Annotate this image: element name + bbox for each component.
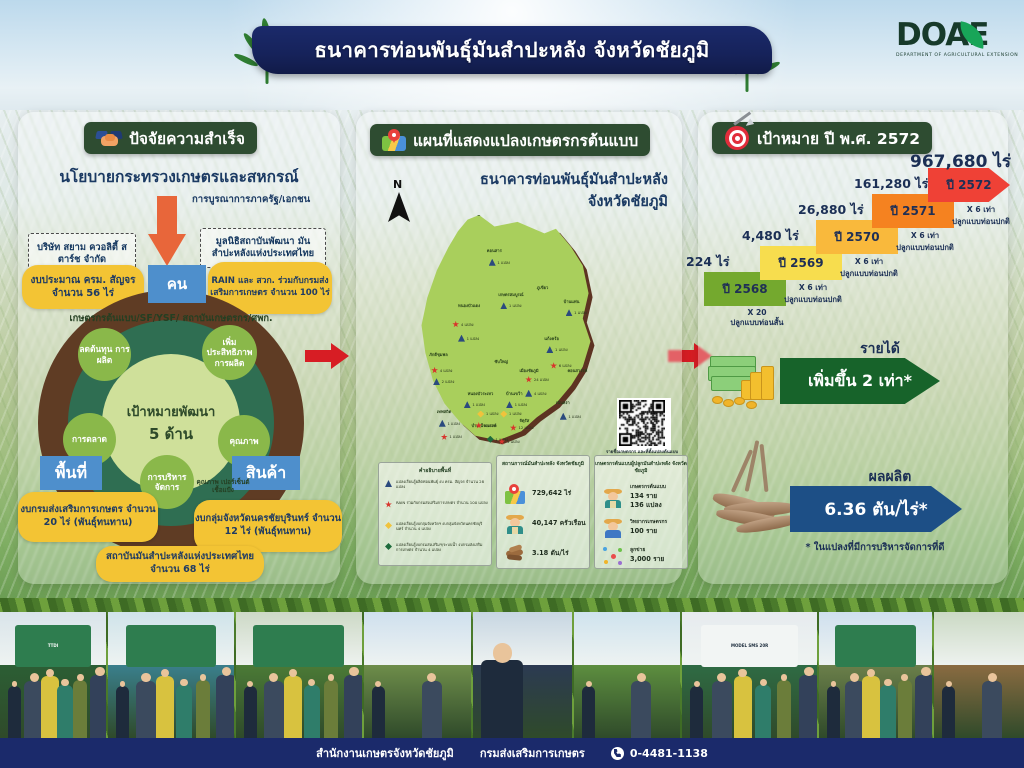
photo-person-head: [328, 674, 334, 680]
farmer-icon: [603, 488, 623, 508]
map-marker-label: 4 แปลง: [440, 368, 453, 374]
target-arrow-icon: [724, 125, 750, 151]
goal-step-note-method: ปลูกแบบท่อนปกติ: [932, 216, 1024, 228]
model-farmer-value: 134 ราย: [630, 492, 666, 502]
photo-banner: [253, 625, 344, 668]
photo-person: [631, 681, 651, 738]
money-stack-icon: [706, 352, 782, 414]
model-farmer-label: เกษตรกรต้นแบบ: [630, 484, 666, 492]
map-district-label: ภูเขียว: [537, 284, 549, 291]
photo-person: [777, 680, 791, 738]
photo-person: [8, 686, 21, 738]
trainer-value: 100 ราย: [630, 527, 667, 537]
photo-cassava-rows: [364, 612, 472, 738]
photo-officer-portrait: [473, 612, 572, 738]
goal-step-value: 4,480 ไร่: [742, 226, 799, 246]
map-marker-label: 24 แปลง: [534, 377, 549, 383]
photo-person: [344, 675, 362, 738]
goal-step-note: X 20ปลูกแบบท่อนสั้น: [708, 308, 806, 329]
photo-banner: [835, 625, 917, 668]
photo-person: [862, 676, 880, 738]
integration-text: การบูรณาการภาครัฐ/เอกชน: [192, 192, 342, 207]
photo-person: [982, 681, 1002, 738]
photo-person-head: [200, 674, 206, 680]
province-cluster-budget-pill: งบกลุ่มจังหวัดนครชัยบุรินทร์ จำนวน 12 ไร…: [194, 500, 342, 552]
institute-budget-pill: สถาบันมันสำปะหลังแห่งประเทศไทย จำนวน 68 …: [96, 546, 264, 582]
map-marker-label: 1 แปลง: [555, 347, 568, 353]
doae-logo: DOAE DEPARTMENT OF AGRICULTURAL EXTENSIO…: [896, 18, 1014, 74]
map-marker-label: 2 แปลง: [442, 379, 455, 385]
goal-step-note-multiplier: X 6 เท่า: [764, 282, 862, 294]
map-district-label: เมืองชัยภูมิ: [519, 367, 538, 374]
map-marker-label: 1 แปลง: [574, 310, 587, 316]
map-marker-label: 6 แปลง: [484, 423, 497, 429]
photo-person: [422, 681, 442, 738]
photo-person-head: [161, 669, 169, 677]
map-marker-label: 6 แปลง: [559, 363, 572, 369]
photo-person-head: [308, 679, 315, 686]
flow-arrow-right-icon: [305, 343, 349, 369]
photo-person: [898, 680, 912, 738]
photo-person-head: [586, 681, 592, 687]
photo-person-head: [867, 669, 875, 677]
success-factors-title-label: ปัจจัยความสำเร็จ: [129, 126, 245, 151]
goal-bubble-efficiency: เพิ่ม ประสิทธิภาพ การผลิต: [202, 325, 257, 380]
map-marker-label: 1 แปลง: [449, 434, 462, 440]
map-district-label: บ้านแท่น: [564, 298, 580, 305]
farmer-icon: [505, 514, 525, 534]
phone-icon: [611, 747, 624, 760]
photo-person-head: [717, 673, 726, 682]
doae-logo-subtitle: DEPARTMENT OF AGRICULTURAL EXTENSION: [896, 53, 1014, 58]
female-farmer-icon: [603, 518, 623, 538]
photo-person-head: [850, 673, 859, 682]
photo-person-head: [222, 667, 232, 677]
photo-person-head: [694, 681, 700, 687]
goal-step-note-method: ปลูกแบบท่อนสั้น: [708, 317, 806, 329]
goal-step-note-method: ปลูกแบบท่อนปกติ: [820, 268, 918, 280]
photo-strip: TTDIMODEL SMS 20R: [0, 612, 1024, 738]
compass-north-label: N: [393, 178, 402, 191]
diagram-center-title: เป้าหมายพัฒนา: [127, 401, 216, 422]
model-farmer-stat-box: เกษตรกรต้นแบบผู้ปลูกมันสำปะหลัง จังหวัดช…: [594, 455, 688, 569]
situation-stat-title: สถานการณ์มันสำปะหลัง จังหวัดชัยภูมิ: [497, 461, 589, 468]
goal-step-value: 26,880 ไร่: [798, 200, 864, 220]
photo-person-head: [921, 667, 931, 677]
photo-person-head: [988, 673, 997, 682]
map-district-label: ซับใหญ่: [494, 358, 508, 365]
map-district-label: บ้านเขว้า: [506, 390, 523, 397]
photo-person: [156, 676, 174, 738]
photo-person-head: [946, 681, 952, 687]
map-district-label: จัตุรัส: [519, 417, 529, 424]
map-district-label: หนองบัวระเหว: [468, 390, 494, 397]
model-farmer-plots: 136 แปลง: [630, 501, 666, 511]
policy-text: นโยบายกระทรวงเกษตรและสหกรณ์: [18, 164, 340, 189]
map-district-label: หนองบัวแดง: [458, 302, 480, 309]
photo-banner: [126, 625, 217, 668]
photo-banner: MODEL SMS 20R: [701, 625, 798, 668]
network-value: 3,000 ราย: [630, 555, 664, 565]
map-panel-title-label: แผนที่แสดงแปลงเกษตรกรต้นแบบ: [413, 128, 638, 153]
goal-step-note: X 6 เท่าปลูกแบบท่อนปกติ: [876, 230, 974, 254]
photo-banner: TTDI: [15, 625, 91, 668]
photo-person: [284, 676, 302, 738]
goal-step-value: 161,280 ไร่: [854, 174, 928, 194]
photo-person: [582, 686, 595, 738]
map-district-label: แก้งคร้อ: [544, 335, 559, 342]
down-arrow-icon: [148, 196, 186, 266]
photo-person-head: [427, 673, 436, 682]
photo-person-head: [831, 681, 837, 687]
photo-model-sms-20r: MODEL SMS 20R: [682, 612, 817, 738]
footer-department: กรมส่งเสริมการเกษตร: [480, 744, 585, 762]
photo-person: [942, 686, 955, 738]
yield-caption: ผลผลิต: [830, 466, 950, 488]
map-marker-label: 1 แปลง: [509, 411, 522, 417]
map-marker-label: 1 แปลง: [447, 421, 460, 427]
map-legend-title: คำอธิบายพื้นที่: [379, 467, 491, 475]
goal-panel-title: เป้าหมาย ปี พ.ศ. 2572: [712, 122, 932, 154]
photo-person-head: [46, 669, 54, 677]
map-marker-label: 12 แปลง: [518, 425, 533, 431]
photo-person: [755, 685, 771, 738]
legend-item: RAIN ร่วมกับกรมส่งเสริมการเกษตร จำนวน 10…: [385, 500, 489, 508]
photo-person-head: [30, 673, 39, 682]
map-marker-label: 1 แปลง: [486, 411, 499, 417]
photo-person-head: [289, 669, 297, 677]
photo-banner-text: TTDI: [15, 643, 91, 648]
legend-item-label: RAIN ร่วมกับกรมส่งเสริมการเกษตร จำนวน 10…: [396, 500, 488, 505]
map-district-label: เกษตรสมบูรณ์: [498, 291, 523, 298]
footer-phone-number: 0-4481-1138: [630, 747, 708, 760]
photo-banner-text: MODEL SMS 20R: [701, 643, 798, 648]
goal-step-value: 224 ไร่: [686, 252, 729, 272]
map-district-label: เนินสง่า: [556, 399, 570, 406]
photo-harvest-pile: [934, 612, 1024, 738]
photo-person: [304, 685, 320, 738]
farmer-types-text: เกษตรกรต้นแบบ/SF/YSF/ สถาบันเกษตรกร/ศพก.: [62, 313, 280, 325]
label-area: พื้นที่: [40, 456, 102, 490]
photo-person: [216, 675, 234, 738]
photo-person: [690, 686, 703, 738]
map-marker-label: 1 แปลง: [509, 303, 522, 309]
triangle-navy-icon: [385, 480, 392, 487]
photo-person: [136, 681, 156, 738]
map-pin-icon: [505, 484, 525, 504]
photo-person-head: [738, 669, 746, 677]
legend-item-label: แปลงเรียนรู้งบกลุ่มจังหวัดฯ งบกลุ่มจังหว…: [396, 521, 489, 532]
map-marker-label: 1 แปลง: [568, 414, 581, 420]
legend-item: แปลงเรียนรู้ผลิตท่อนพันธุ์ งบ ครม. สัญจร…: [385, 479, 489, 490]
map-marker-label: 4 แปลง: [534, 391, 547, 397]
cassava-root-icon: [505, 544, 525, 564]
photo-award-handover: [108, 612, 234, 738]
page-title: ธนาคารท่อนพันธุ์มันสำปะหลัง จังหวัดชัยภู…: [314, 34, 709, 67]
trainer-label: วิทยากรเกษตรกร: [630, 519, 667, 527]
success-factors-title: ปัจจัยความสำเร็จ: [84, 122, 257, 154]
photo-person: [880, 685, 896, 738]
situation-yield-value: 3.18 ตัน/ไร่: [532, 549, 569, 559]
photo-person-head: [804, 667, 814, 677]
yield-arrow-banner: 6.36 ตัน/ไร่*: [790, 486, 962, 532]
header-title-pill: ธนาคารท่อนพันธุ์มันสำปะหลัง จังหวัดชัยภู…: [252, 26, 772, 74]
map-heading-line1: ธนาคารท่อนพันธุ์มันสำปะหลัง: [400, 170, 668, 191]
photo-person-head: [77, 674, 83, 680]
photo-person-head: [781, 674, 787, 680]
photo-person-head: [61, 679, 68, 686]
map-marker-star: [441, 434, 448, 441]
photo-person-head: [120, 681, 126, 687]
goal-footnote: * ในแปลงที่มีการบริหารจัดการที่ดี: [750, 540, 1000, 555]
photo-field-visit-cassava: [236, 612, 362, 738]
goal-step-note-multiplier: X 6 เท่า: [820, 256, 918, 268]
diagram-center-value: 5 ด้าน: [149, 422, 193, 446]
photo-person: [799, 675, 817, 738]
income-caption: รายได้: [820, 338, 940, 360]
photo-person: [196, 680, 210, 738]
photo-person-head: [95, 667, 105, 677]
goal-step-note: X 6 เท่าปลูกแบบท่อนปกติ: [820, 256, 918, 280]
photo-person-head: [349, 667, 359, 677]
photo-person: [481, 660, 523, 738]
photo-person: [712, 681, 732, 738]
diamond-yellow-icon: [385, 522, 392, 529]
map-pin-icon: [382, 129, 406, 151]
footer-bar: สำนักงานเกษตรจังหวัดชัยภูมิ กรมส่งเสริมก…: [0, 738, 1024, 768]
photo-person: [176, 685, 192, 738]
map-marker-tri: [560, 413, 567, 420]
legend-item-label: แปลงเรียนรู้ผลิตท่อนพันธุ์ งบ ครม. สัญจร…: [396, 479, 489, 490]
goal-step-note-multiplier: X 6 เท่า: [876, 230, 974, 242]
network-label: ลูกข่าย: [630, 547, 664, 555]
photo-person: [116, 686, 129, 738]
label-people: คน: [148, 265, 206, 303]
photo-person-head: [637, 673, 646, 682]
photo-person-head: [901, 674, 907, 680]
qr-code[interactable]: [617, 398, 671, 452]
map-marker-tri: [439, 420, 446, 427]
photo-cassava-field: [574, 612, 680, 738]
goal-step-note-method: ปลูกแบบท่อนปกติ: [764, 294, 862, 306]
map-district-label: ภักดีชุมพล: [429, 351, 448, 358]
photo-person: [41, 676, 59, 738]
legend-item: แปลงเรียนรู้งบกรมส่งเสริมฯ/ระบบน้ำ งบกรม…: [385, 542, 489, 553]
photo-person-head: [180, 679, 187, 686]
photo-group-stems: [819, 612, 932, 738]
diamond-green-icon: [385, 543, 392, 550]
footer-office: สำนักงานเกษตรจังหวัดชัยภูมิ: [316, 744, 454, 762]
photo-person: [734, 676, 752, 738]
photo-person-head: [12, 681, 18, 687]
map-marker-label: 1 แปลง: [497, 260, 510, 266]
map-marker-label: 1 แปลง: [515, 402, 528, 408]
map-marker-label: 1 แปลง: [472, 402, 485, 408]
photo-person-head: [884, 679, 891, 686]
photo-person: [73, 680, 87, 738]
star-red-icon: [385, 501, 392, 508]
map-marker-label: 1 แปลง: [467, 336, 480, 342]
chaiyaphum-province-map: คอนสารเกษตรสมบูรณ์ภูเขียวบ้านแท่นหนองบัว…: [410, 215, 602, 445]
photo-person-head: [247, 681, 253, 687]
photo-person: [264, 681, 284, 738]
legend-item-label: แปลงเรียนรู้งบกรมส่งเสริมฯ/ระบบน้ำ งบกรม…: [396, 542, 489, 553]
compass-icon: N: [386, 178, 412, 224]
photo-person-head: [760, 679, 767, 686]
handshake-icon: [96, 130, 122, 147]
situation-household-value: 40,147 ครัวเรือน: [532, 519, 586, 529]
map-district-label: คอนสาร: [487, 247, 502, 254]
goal-step-note: X 6 เท่าปลูกแบบท่อนปกติ: [932, 204, 1024, 228]
legend-item: แปลงเรียนรู้งบกลุ่มจังหวัดฯ งบกลุ่มจังหว…: [385, 521, 489, 532]
quality-starch-text: คุณภาพ เปอร์เซ็นต์เชื้อแป้ง: [192, 478, 254, 494]
map-district-label: เทพสถิต: [437, 408, 451, 415]
photo-person: [324, 680, 338, 738]
map-legend: คำอธิบายพื้นที่ แปลงเรียนรู้ผลิตท่อนพันธ…: [378, 462, 492, 566]
goal-panel-title-label: เป้าหมาย ปี พ.ศ. 2572: [757, 126, 920, 151]
photo-person-head: [375, 681, 381, 687]
goal-step-note: X 6 เท่าปลูกแบบท่อนปกติ: [764, 282, 862, 306]
photo-person: [90, 675, 106, 738]
goal-step-value: 967,680 ไร่: [910, 148, 1011, 175]
situation-stat-box: สถานการณ์มันสำปะหลัง จังหวัดชัยภูมิ 729,…: [496, 455, 590, 569]
photo-person-head: [269, 673, 278, 682]
photo-person: [915, 675, 932, 738]
network-icon: [603, 546, 623, 566]
goal-step-note-multiplier: X 6 เท่า: [932, 204, 1024, 216]
photo-person-head: [141, 673, 150, 682]
goal-step-note-method: ปลูกแบบท่อนปกติ: [876, 242, 974, 254]
footer-phone: 0-4481-1138: [611, 747, 708, 760]
goal-bubble-cost: ลดต้นทุน การผลิต: [78, 328, 131, 381]
header: ธนาคารท่อนพันธุ์มันสำปะหลัง จังหวัดชัยภู…: [0, 0, 1024, 110]
map-marker-label: 4 แปลง: [461, 322, 474, 328]
model-farmer-stat-title: เกษตรกรต้นแบบผู้ปลูกมันสำปะหลัง จังหวัดช…: [595, 461, 687, 475]
map-marker-label: 1 แปลง: [507, 439, 520, 445]
map-panel-title: แผนที่แสดงแปลงเกษตรกรต้นแบบ: [370, 124, 650, 156]
situation-area-value: 729,642 ไร่: [532, 489, 571, 499]
map-heading-line2: จังหวัดชัยภูมิ: [400, 190, 668, 213]
photo-ttdi-ceremony: TTDI: [0, 612, 106, 738]
goal-step-note-multiplier: X 20: [708, 308, 806, 317]
photo-person: [827, 686, 840, 738]
photo-person: [57, 685, 73, 738]
doae-logo-text: DOAE: [896, 18, 1014, 52]
doae-budget-pill: งบกรมส่งเสริมการเกษตร จำนวน 20 ไร่ (พันธ…: [18, 492, 158, 542]
photo-person: [372, 686, 385, 738]
photo-person: [244, 686, 257, 738]
photo-person-head: [493, 643, 512, 662]
